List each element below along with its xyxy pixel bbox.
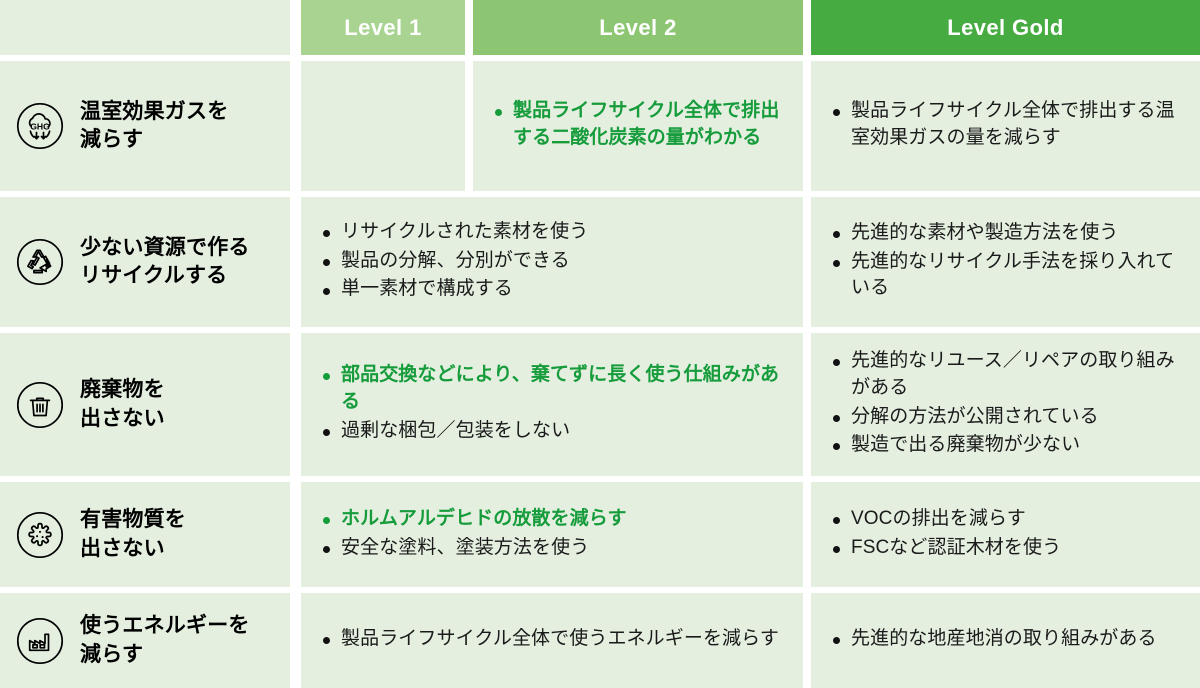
cell-r1-level2: 製品ライフサイクル全体で排出する二酸化炭素の量がわかる xyxy=(473,61,803,191)
factory-icon xyxy=(14,615,66,667)
list-item: 分解の方法が公開されている xyxy=(829,404,1184,431)
cell-r1-level1-empty xyxy=(301,61,465,191)
row-label-hazardous: 有害物質を 出さない xyxy=(0,482,290,587)
list-item: 先進的なリユース／リペアの取り組みがある xyxy=(829,348,1184,402)
list-item: 先進的な地産地消の取り組みがある xyxy=(829,626,1184,653)
bullet-list: 先進的な地産地消の取り組みがある xyxy=(829,626,1184,655)
list-item: FSCなど認証木材を使う xyxy=(829,535,1184,562)
list-item: 製品の分解、分別ができる xyxy=(319,248,787,275)
row-label-recycle: 少ない資源で作る リサイクルする xyxy=(0,197,290,327)
cell-r2-level1-level2-merged: リサイクルされた素材を使う 製品の分解、分別ができる 単一素材で構成する xyxy=(301,197,803,327)
list-item: 製品ライフサイクル全体で使うエネルギーを減らす xyxy=(319,626,787,653)
row-label-waste: 廃棄物を 出さない xyxy=(0,333,290,476)
list-item: ホルムアルデヒドの放散を減らす xyxy=(319,506,787,533)
bullet-list: 部品交換などにより、棄てずに長く使う仕組みがある 過剰な梱包／包装をしない xyxy=(319,362,787,447)
row-label-text: 温室効果ガスを 減らす xyxy=(80,98,228,154)
list-item: 先進的な素材や製造方法を使う xyxy=(829,220,1184,247)
row-label-ghg: GHG 温室効果ガスを 減らす xyxy=(0,61,290,191)
header-corner-cell xyxy=(0,0,290,55)
bullet-list: 製品ライフサイクル全体で排出する二酸化炭素の量がわかる xyxy=(491,98,787,154)
sustainability-level-matrix: Level 1 Level 2 Level Gold GHG 温室効果ガスを 減… xyxy=(0,0,1200,688)
list-item: 単一素材で構成する xyxy=(319,276,787,303)
row-label-text: 少ない資源で作る リサイクルする xyxy=(80,234,250,290)
bullet-list: VOCの排出を減らす FSCなど認証木材を使う xyxy=(829,506,1184,564)
row-label-text: 使うエネルギーを 減らす xyxy=(80,612,250,668)
bullet-list: 製品ライフサイクル全体で使うエネルギーを減らす xyxy=(319,626,787,655)
list-item: 過剰な梱包／包装をしない xyxy=(319,418,787,445)
list-item: VOCの排出を減らす xyxy=(829,506,1184,533)
trash-bin-icon xyxy=(14,379,66,431)
list-item: 部品交換などにより、棄てずに長く使う仕組みがある xyxy=(319,362,787,416)
header-level-1: Level 1 xyxy=(301,0,465,55)
header-level-gold: Level Gold xyxy=(811,0,1200,55)
cell-r5-gold: 先進的な地産地消の取り組みがある xyxy=(811,593,1200,688)
svg-text:GHG: GHG xyxy=(30,121,50,131)
row-label-energy: 使うエネルギーを 減らす xyxy=(0,593,290,688)
cell-r2-gold: 先進的な素材や製造方法を使う 先進的なリサイクル手法を採り入れている xyxy=(811,197,1200,327)
bullet-list: 先進的なリユース／リペアの取り組みがある 分解の方法が公開されている 製造で出る… xyxy=(829,348,1184,462)
cell-r1-gold: 製品ライフサイクル全体で排出する温室効果ガスの量を減らす xyxy=(811,61,1200,191)
list-item: 製造で出る廃棄物が少ない xyxy=(829,432,1184,459)
list-item: 製品ライフサイクル全体で排出する温室効果ガスの量を減らす xyxy=(829,98,1184,152)
header-level-2: Level 2 xyxy=(473,0,803,55)
bullet-list: 製品ライフサイクル全体で排出する温室効果ガスの量を減らす xyxy=(829,98,1184,154)
hazard-particle-icon xyxy=(14,509,66,561)
list-item: 先進的なリサイクル手法を採り入れている xyxy=(829,249,1184,303)
cell-r3-level1-level2-merged: 部品交換などにより、棄てずに長く使う仕組みがある 過剰な梱包／包装をしない xyxy=(301,333,803,476)
list-item: 安全な塗料、塗装方法を使う xyxy=(319,535,787,562)
cell-r5-level1-level2-merged: 製品ライフサイクル全体で使うエネルギーを減らす xyxy=(301,593,803,688)
cell-r4-level1-level2-merged: ホルムアルデヒドの放散を減らす 安全な塗料、塗装方法を使う xyxy=(301,482,803,587)
cell-r3-gold: 先進的なリユース／リペアの取り組みがある 分解の方法が公開されている 製造で出る… xyxy=(811,333,1200,476)
bullet-list: 先進的な素材や製造方法を使う 先進的なリサイクル手法を採り入れている xyxy=(829,220,1184,305)
row-label-text: 有害物質を 出さない xyxy=(80,506,186,562)
row-label-text: 廃棄物を 出さない xyxy=(80,376,165,432)
bullet-list: ホルムアルデヒドの放散を減らす 安全な塗料、塗装方法を使う xyxy=(319,506,787,564)
cell-r4-gold: VOCの排出を減らす FSCなど認証木材を使う xyxy=(811,482,1200,587)
ghg-cloud-icon: GHG xyxy=(14,100,66,152)
list-item: リサイクルされた素材を使う xyxy=(319,219,787,246)
bullet-list: リサイクルされた素材を使う 製品の分解、分別ができる 単一素材で構成する xyxy=(319,219,787,306)
list-item: 製品ライフサイクル全体で排出する二酸化炭素の量がわかる xyxy=(491,98,787,152)
recycle-icon xyxy=(14,236,66,288)
